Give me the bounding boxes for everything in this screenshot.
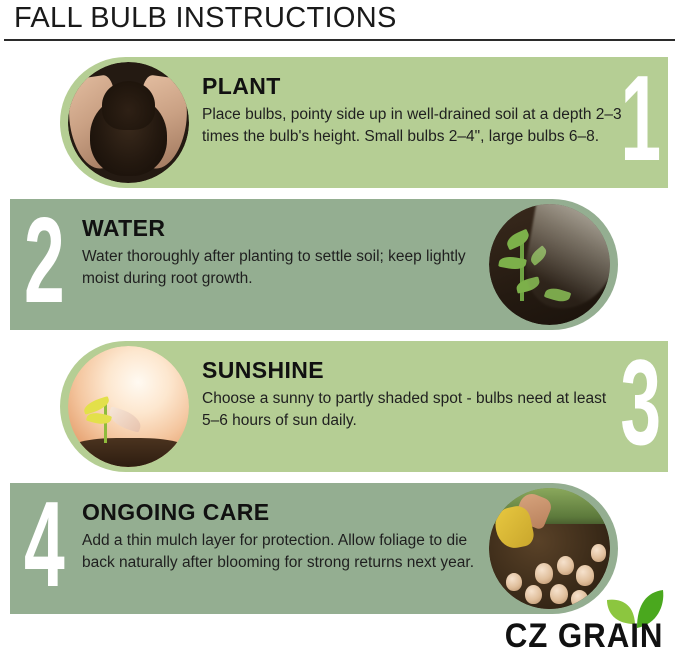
soil-ground-shape <box>68 438 189 467</box>
hands-holding-soil-photo <box>68 62 189 183</box>
instruction-steps-list: 1 PLANT Place bulbs, pointy side up in w… <box>0 0 679 662</box>
step-number: 3 <box>620 337 660 468</box>
bulb-shape <box>576 565 594 586</box>
step-text-block: WATER Water thoroughly after planting to… <box>82 215 482 290</box>
bulb-shape <box>591 544 607 562</box>
brand-name: CZ GRAIN <box>504 617 663 656</box>
bulb-shape <box>535 563 553 584</box>
watering-seedlings-photo <box>489 204 610 325</box>
step-text-block: SUNSHINE Choose a sunny to partly shaded… <box>202 357 622 432</box>
step-item-sunshine: 3 SUNSHINE Choose a sunny to partly shad… <box>60 341 668 472</box>
step-number: 4 <box>24 479 64 610</box>
step-heading: PLANT <box>202 73 642 100</box>
step-heading: WATER <box>82 215 482 242</box>
pale-leaf-shape <box>106 407 143 434</box>
step-body: Place bulbs, pointy side up in well-drai… <box>202 104 642 148</box>
soil-top-shape <box>102 81 155 129</box>
step-item-plant: 1 PLANT Place bulbs, pointy side up in w… <box>60 57 668 188</box>
step-body: Choose a sunny to partly shaded spot - b… <box>202 388 622 432</box>
step-text-block: ONGOING CARE Add a thin mulch layer for … <box>82 499 482 574</box>
step-number: 2 <box>24 195 64 326</box>
water-spray-shape <box>519 204 610 317</box>
step-text-block: PLANT Place bulbs, pointy side up in wel… <box>202 73 642 148</box>
step-body: Add a thin mulch layer for protection. A… <box>82 530 482 574</box>
step-item-water: 2 WATER Water thoroughly after planting … <box>10 199 618 330</box>
planting-bulbs-gloved-hand-photo <box>489 488 610 609</box>
step-heading: SUNSHINE <box>202 357 622 384</box>
seedling-in-sunlight-photo <box>68 346 189 467</box>
bulb-shape <box>557 556 574 575</box>
brand-logo: CZ GRAIN <box>449 592 669 656</box>
step-heading: ONGOING CARE <box>82 499 482 526</box>
step-body: Water thoroughly after planting to settl… <box>82 246 482 290</box>
bulb-shape <box>506 573 522 591</box>
